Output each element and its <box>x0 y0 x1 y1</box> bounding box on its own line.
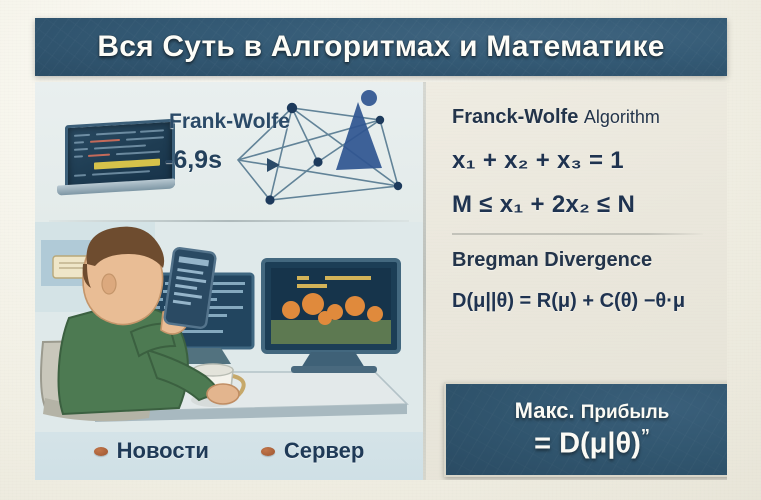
arrow-right-icon <box>267 158 280 172</box>
max-profit-line-1: Макс. Прибыль <box>515 398 670 424</box>
footer-label-news: Новости <box>117 438 209 464</box>
section-heading-bregman: Bregman Divergence <box>452 249 717 272</box>
max-profit-quote: ” <box>641 426 650 446</box>
infographic-poster: Вся Суть в Алгоритмах и Математике <box>0 0 761 500</box>
person-at-desk-icon <box>35 222 423 432</box>
max-profit-bold-text: Макс. <box>515 398 575 423</box>
formula-simplex-constraint: x₁ + x₂ + x₃ = 1 <box>452 147 717 175</box>
footer-item-server[interactable]: Сервер <box>261 438 364 464</box>
right-panel-divider <box>452 233 703 235</box>
footer-item-news[interactable]: Новости <box>94 438 209 464</box>
formula-bregman-divergence: D(μ||θ) = R(μ) + C(θ) −θ·μ <box>452 290 717 313</box>
heading-bold-text: Franck-Wolfe <box>452 106 578 128</box>
footer-label-server: Сервер <box>284 438 364 464</box>
heading-bold-text: Bregman Divergence <box>452 249 652 271</box>
max-profit-formula: = D(μ|θ) <box>534 428 641 460</box>
left-panel: Frank-Wolfe -6,9s Integer Programming <box>35 82 423 480</box>
bullet-dot-icon <box>94 447 108 456</box>
right-panel: Franck-Wolfe Algorithm x₁ + x₂ + x₃ = 1 … <box>426 82 727 480</box>
page-title: Вся Суть в Алгоритмах и Математике <box>97 30 664 64</box>
formula-box-constraint: M ≤ x₁ + 2x₂ ≤ N <box>452 191 717 219</box>
footer-items: Новости Сервер <box>35 438 423 464</box>
speed-label: -6,9s <box>165 146 222 175</box>
laptop-icon <box>57 122 175 202</box>
section-heading-frank-wolfe: Franck-Wolfe Algorithm <box>452 106 717 129</box>
panels-container: Frank-Wolfe -6,9s Integer Programming <box>35 82 727 480</box>
title-banner: Вся Суть в Алгоритмах и Математике <box>35 18 727 76</box>
max-profit-line-2: = D(μ|θ)” <box>534 426 650 461</box>
max-profit-box: Макс. Прибыль = D(μ|θ)” <box>444 382 727 477</box>
bullet-dot-icon <box>261 447 275 456</box>
max-profit-small-text: Прибыль <box>581 402 670 423</box>
frank-wolfe-label: Frank-Wolfe <box>169 110 290 134</box>
polytope-graph-icon <box>230 90 415 210</box>
heading-light-text: Algorithm <box>584 107 660 127</box>
